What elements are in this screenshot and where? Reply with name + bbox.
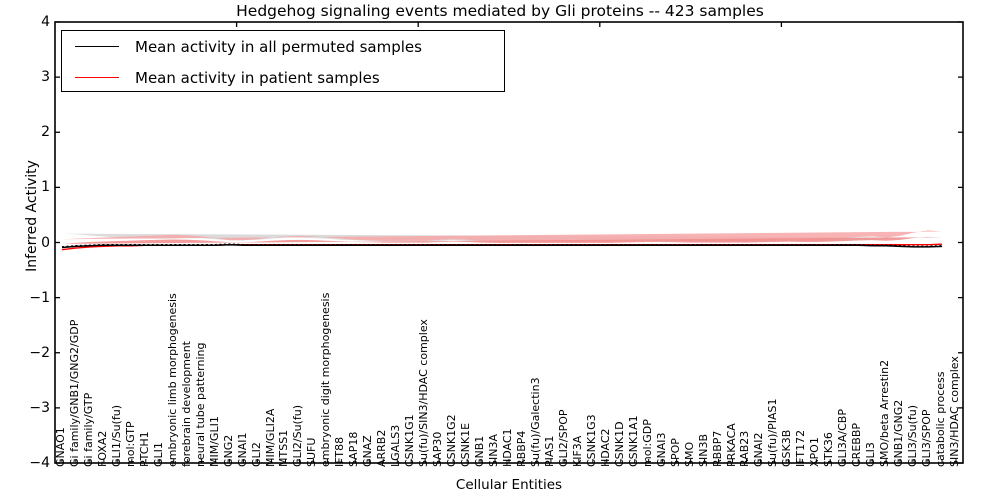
- x-tick-label: SMO/beta Arrestin2: [879, 360, 890, 467]
- legend-swatch-permuted: [75, 46, 119, 47]
- x-tick-label: SPOP: [670, 438, 681, 467]
- x-tick-label: embryonic limb morphogenesis: [167, 293, 178, 467]
- x-tick-label: LGALS3: [390, 425, 401, 467]
- x-tick-label: Gi family/GTP: [83, 393, 94, 467]
- x-tick-label: ARRB2: [376, 430, 387, 467]
- x-tick-label: GNAZ: [362, 435, 373, 467]
- x-tick-label: mol:GDP: [642, 419, 653, 467]
- legend-label-patient: Mean activity in patient samples: [135, 69, 380, 87]
- x-tick-label: embryonic digit morphogenesis: [320, 293, 331, 467]
- x-tick-label: mol:GTP: [125, 421, 136, 467]
- x-tick-label: GNAI2: [753, 432, 764, 467]
- x-tick-label: HDAC2: [600, 428, 611, 467]
- x-tick-label: MIM/GLI2A: [265, 409, 276, 467]
- chart-legend: Mean activity in all permuted samples Me…: [61, 30, 505, 92]
- x-tick-label: SIN3A: [488, 434, 499, 467]
- x-tick-label: MTSS1: [278, 430, 289, 467]
- x-tick-label: Su(fu)/SIN3/HDAC complex: [418, 319, 429, 467]
- x-tick-label: CSNK1E: [460, 423, 471, 467]
- legend-item-permuted: Mean activity in all permuted samples: [62, 31, 504, 62]
- x-tick-label: GLI3A/CBP: [837, 409, 848, 467]
- x-tick-label: SIN3B: [698, 434, 709, 467]
- x-tick-label: SUFU: [306, 438, 317, 467]
- x-tick-label: GNB1/GNG2: [893, 400, 904, 467]
- x-tick-label: catabolic process: [935, 372, 946, 467]
- x-tick-label: GNAI3: [656, 432, 667, 467]
- x-tick-label: GLI3/Su(fu): [907, 405, 918, 467]
- x-tick-label: HDAC1: [502, 428, 513, 467]
- x-tick-label: Su(fu)/PIAS1: [767, 399, 778, 467]
- x-tick-label: GLI2/SPOP: [558, 409, 569, 467]
- x-tick-label: GLI3: [865, 442, 876, 467]
- x-tick-label: GLI2: [251, 442, 262, 467]
- x-tick-label: KIF3A: [572, 436, 583, 467]
- x-tick-label: CSNK1A1: [628, 415, 639, 467]
- y-axis-title: Inferred Activity: [24, 116, 40, 316]
- x-tick-label: CSNK1G3: [586, 414, 597, 467]
- x-tick-label: GLI1/Su(fu): [111, 405, 122, 467]
- x-tick-label: PRKACA: [726, 423, 737, 467]
- x-tick-label: GLI2/Su(fu): [292, 405, 303, 467]
- x-tick-label: XPO1: [809, 437, 820, 467]
- x-tick-label: Su(fu)/Galectin3: [530, 377, 541, 467]
- x-tick-label: IFT88: [334, 437, 345, 467]
- x-tick-label: MIM/GLI1: [209, 416, 220, 467]
- chart-figure: Hedgehog signaling events mediated by Gl…: [0, 0, 1000, 500]
- x-tick-label: GLI1: [153, 442, 164, 467]
- x-tick-label: SIN3/HDAC complex: [949, 356, 960, 467]
- x-tick-label: CREBBP: [851, 423, 862, 467]
- x-axis-title: Cellular Entities: [55, 477, 963, 493]
- x-tick-label: SAP30: [432, 432, 443, 467]
- x-tick-label: PIAS1: [544, 436, 555, 467]
- legend-item-patient: Mean activity in patient samples: [62, 62, 504, 93]
- x-tick-label: RBBP7: [712, 431, 723, 467]
- x-tick-label: PTCH1: [139, 431, 150, 467]
- x-tick-label: forebrain development: [181, 341, 192, 467]
- x-tick-label: RBBP4: [516, 431, 527, 467]
- x-tick-label: Gi family/GNB1/GNG2/GDP: [69, 320, 80, 467]
- x-tick-label: GLI3/SPOP: [921, 409, 932, 467]
- x-tick-label: FOXA2: [97, 431, 108, 467]
- x-tick-label: STK36: [823, 432, 834, 467]
- x-tick-label: IFT172: [795, 430, 806, 467]
- x-tick-label: GNB1: [474, 436, 485, 467]
- x-tick-label: neural tube patterning: [195, 343, 206, 468]
- x-tick-label: GSK3B: [781, 430, 792, 467]
- x-tick-label: GNAI1: [237, 432, 248, 467]
- x-tick-label: CSNK1G2: [446, 414, 457, 467]
- x-tick-label: CSNK1D: [614, 421, 625, 467]
- x-tick-label: SAP18: [348, 432, 359, 467]
- x-tick-label: RAB23: [739, 431, 750, 467]
- legend-label-permuted: Mean activity in all permuted samples: [135, 38, 422, 56]
- legend-swatch-patient: [75, 77, 119, 78]
- x-tick-label: SMO: [684, 442, 695, 467]
- x-tick-label: GNAO1: [55, 427, 66, 467]
- x-tick-label: GNG2: [223, 435, 234, 467]
- x-tick-label: CSNK1G1: [404, 414, 415, 467]
